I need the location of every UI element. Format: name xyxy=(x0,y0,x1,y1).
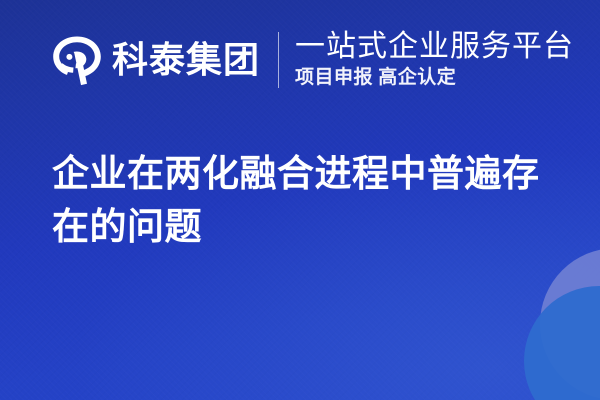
promo-banner: 科泰集团 一站式企业服务平台 项目申报 高企认定 企业在两化融合进程中普遍存在的… xyxy=(0,0,600,400)
header-divider xyxy=(278,32,279,88)
slogan-main: 一站式企业服务平台 xyxy=(295,31,574,63)
page-title: 企业在两化融合进程中普遍存在的问题 xyxy=(52,148,552,253)
ketai-circular-logo-icon xyxy=(50,33,104,87)
slogan-block: 一站式企业服务平台 项目申报 高企认定 xyxy=(295,31,574,88)
slogan-sub: 项目申报 高企认定 xyxy=(295,68,574,89)
brand-name: 科泰集团 xyxy=(112,42,260,78)
banner-header: 科泰集团 一站式企业服务平台 项目申报 高企认定 xyxy=(50,28,574,92)
